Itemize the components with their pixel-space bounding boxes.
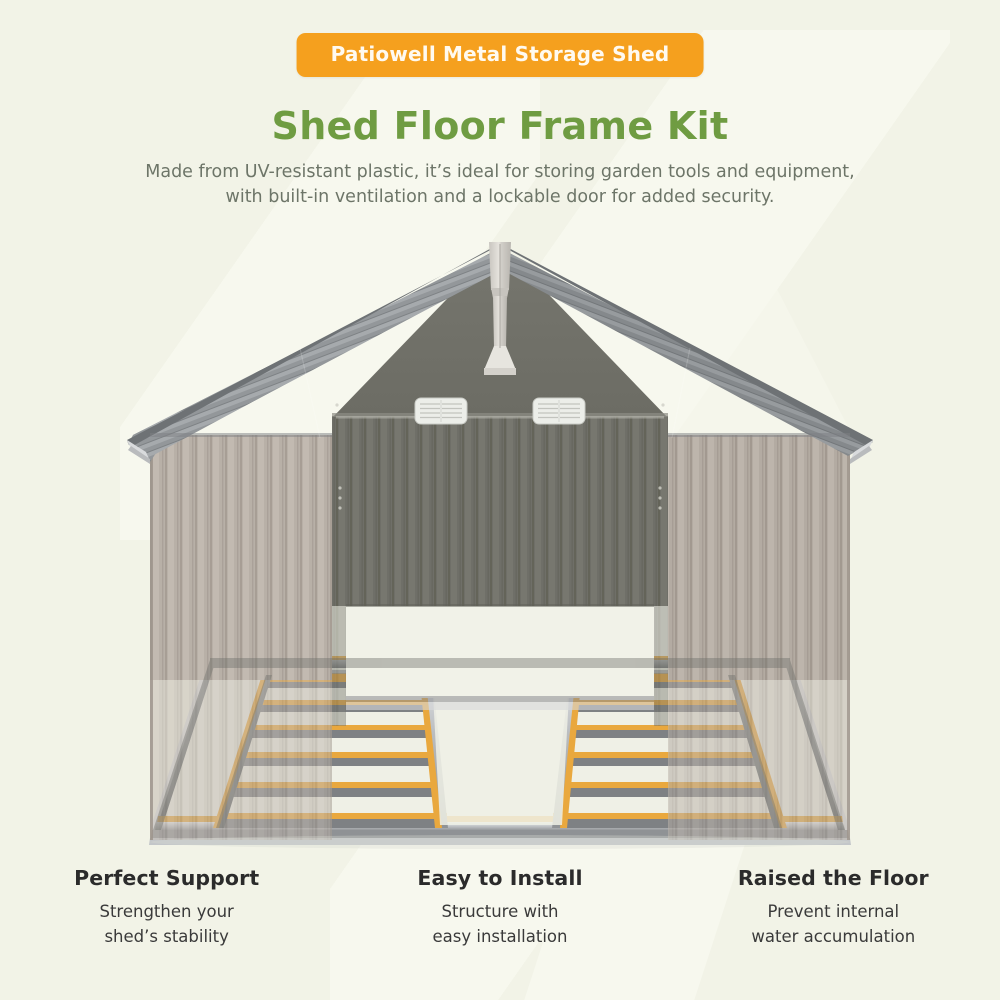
subtitle-line-1: Made from UV-resistant plastic, it’s ide…	[90, 160, 910, 185]
louver-vent-right	[533, 398, 585, 424]
louver-vent-left	[415, 398, 467, 424]
page-title: Shed Floor Frame Kit	[0, 104, 1000, 148]
feature-line-2: water accumulation	[667, 924, 1000, 949]
feature-line-2: shed’s stability	[0, 924, 333, 949]
feature-title: Raised the Floor	[667, 866, 1000, 890]
feature-title: Easy to Install	[333, 866, 666, 890]
feature-list: Perfect Support Strengthen your shed’s s…	[0, 866, 1000, 949]
product-illustration	[0, 230, 1000, 850]
feature-item: Raised the Floor Prevent internal water …	[667, 866, 1000, 949]
page-subtitle: Made from UV-resistant plastic, it’s ide…	[90, 160, 910, 210]
feature-item: Easy to Install Structure with easy inst…	[333, 866, 666, 949]
infographic-page: Patiowell Metal Storage Shed Shed Floor …	[0, 0, 1000, 1000]
brand-badge: Patiowell Metal Storage Shed	[297, 33, 704, 77]
feature-title: Perfect Support	[0, 866, 333, 890]
feature-line-2: easy installation	[333, 924, 666, 949]
subtitle-line-2: with built-in ventilation and a lockable…	[90, 185, 910, 210]
feature-line-1: Strengthen your	[0, 899, 333, 924]
feature-line-1: Structure with	[333, 899, 666, 924]
feature-line-1: Prevent internal	[667, 899, 1000, 924]
feature-item: Perfect Support Strengthen your shed’s s…	[0, 866, 333, 949]
door-opening	[346, 604, 654, 710]
